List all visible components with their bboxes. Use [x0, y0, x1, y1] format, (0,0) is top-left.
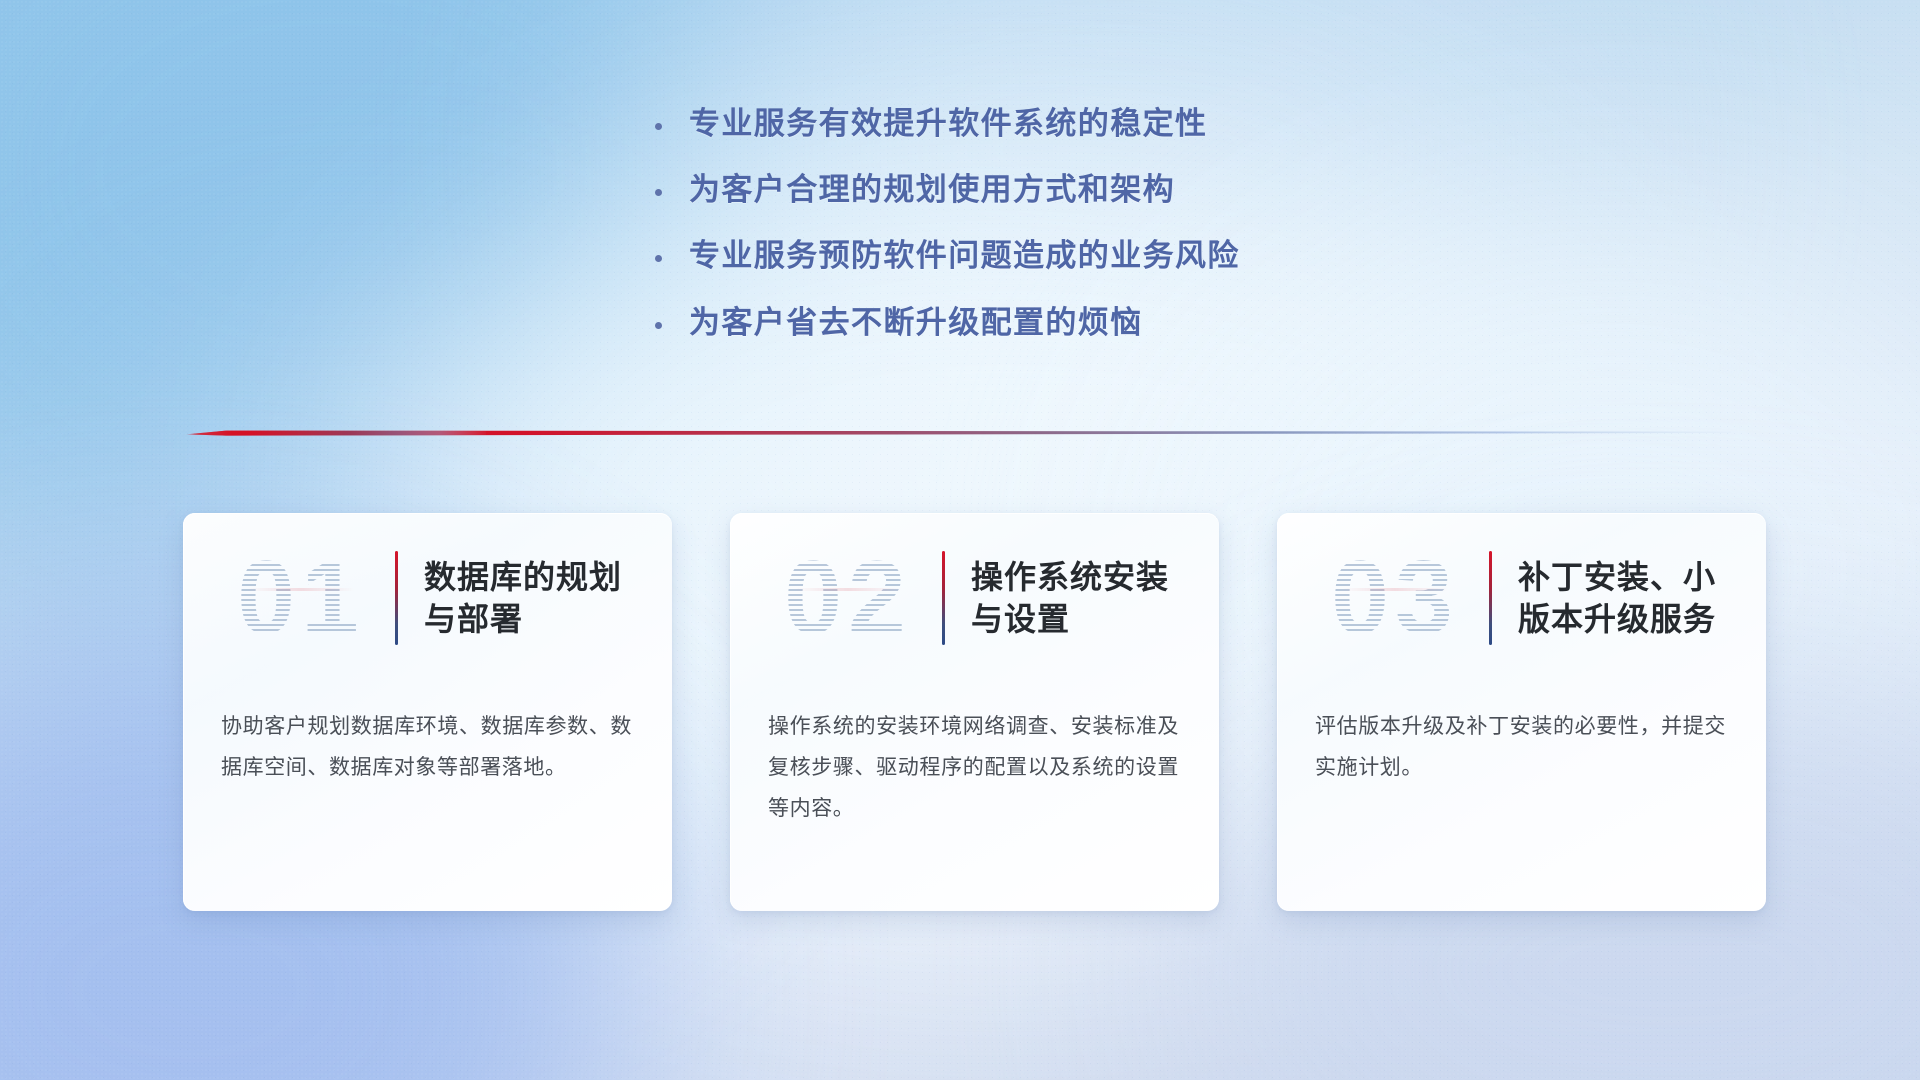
service-card-01[interactable]: 01 数据库的规划 与部署 协助客户规划数据库环境、数据库参数、数据库空间、数据… [183, 513, 672, 911]
card-number-watermark: 01 [207, 538, 395, 658]
bullet-dot-icon [655, 113, 689, 130]
divider-shape-icon [186, 425, 1731, 441]
card-body-text: 协助客户规划数据库环境、数据库参数、数据库空间、数据库对象等部署落地。 [183, 683, 672, 789]
list-item: 专业服务有效提升软件系统的稳定性 [655, 105, 1575, 142]
section-divider [186, 425, 1731, 441]
bullet-text: 为客户合理的规划使用方式和架构 [689, 171, 1175, 208]
list-item: 专业服务预防软件问题造成的业务风险 [655, 237, 1575, 274]
bullet-text: 为客户省去不断升级配置的烦恼 [689, 304, 1143, 341]
bullet-text: 专业服务预防软件问题造成的业务风险 [689, 237, 1240, 274]
service-card-list: 01 数据库的规划 与部署 协助客户规划数据库环境、数据库参数、数据库空间、数据… [183, 513, 1766, 911]
bullet-dot-icon [655, 245, 689, 262]
card-number-text: 01 [237, 539, 365, 658]
list-item: 为客户省去不断升级配置的烦恼 [655, 304, 1575, 341]
card-title: 操作系统安装 与设置 [971, 556, 1169, 640]
card-title: 数据库的规划 与部署 [424, 556, 622, 640]
benefits-bullet-list: 专业服务有效提升软件系统的稳定性 为客户合理的规划使用方式和架构 专业服务预防软… [655, 105, 1575, 370]
card-accent-rule [1489, 551, 1492, 645]
list-item: 为客户合理的规划使用方式和架构 [655, 171, 1575, 208]
card-body-text: 评估版本升级及补丁安装的必要性，并提交实施计划。 [1277, 683, 1766, 789]
card-number-text: 03 [1331, 539, 1459, 658]
bullet-dot-icon [655, 312, 689, 329]
card-header: 01 数据库的规划 与部署 [183, 513, 672, 683]
card-number-text: 02 [784, 539, 912, 658]
service-card-03[interactable]: 03 补丁安装、小 版本升级服务 评估版本升级及补丁安装的必要性，并提交实施计划… [1277, 513, 1766, 911]
card-header: 02 操作系统安装 与设置 [730, 513, 1219, 683]
card-number-watermark: 02 [754, 538, 942, 658]
card-body-text: 操作系统的安装环境网络调查、安装标准及复核步骤、驱动程序的配置以及系统的设置等内… [730, 683, 1219, 830]
card-header: 03 补丁安装、小 版本升级服务 [1277, 513, 1766, 683]
card-accent-rule [942, 551, 945, 645]
card-title: 补丁安装、小 版本升级服务 [1518, 556, 1716, 640]
service-card-02[interactable]: 02 操作系统安装 与设置 操作系统的安装环境网络调查、安装标准及复核步骤、驱动… [730, 513, 1219, 911]
bullet-dot-icon [655, 179, 689, 196]
bullet-text: 专业服务有效提升软件系统的稳定性 [689, 105, 1207, 142]
card-accent-rule [395, 551, 398, 645]
card-number-watermark: 03 [1301, 538, 1489, 658]
